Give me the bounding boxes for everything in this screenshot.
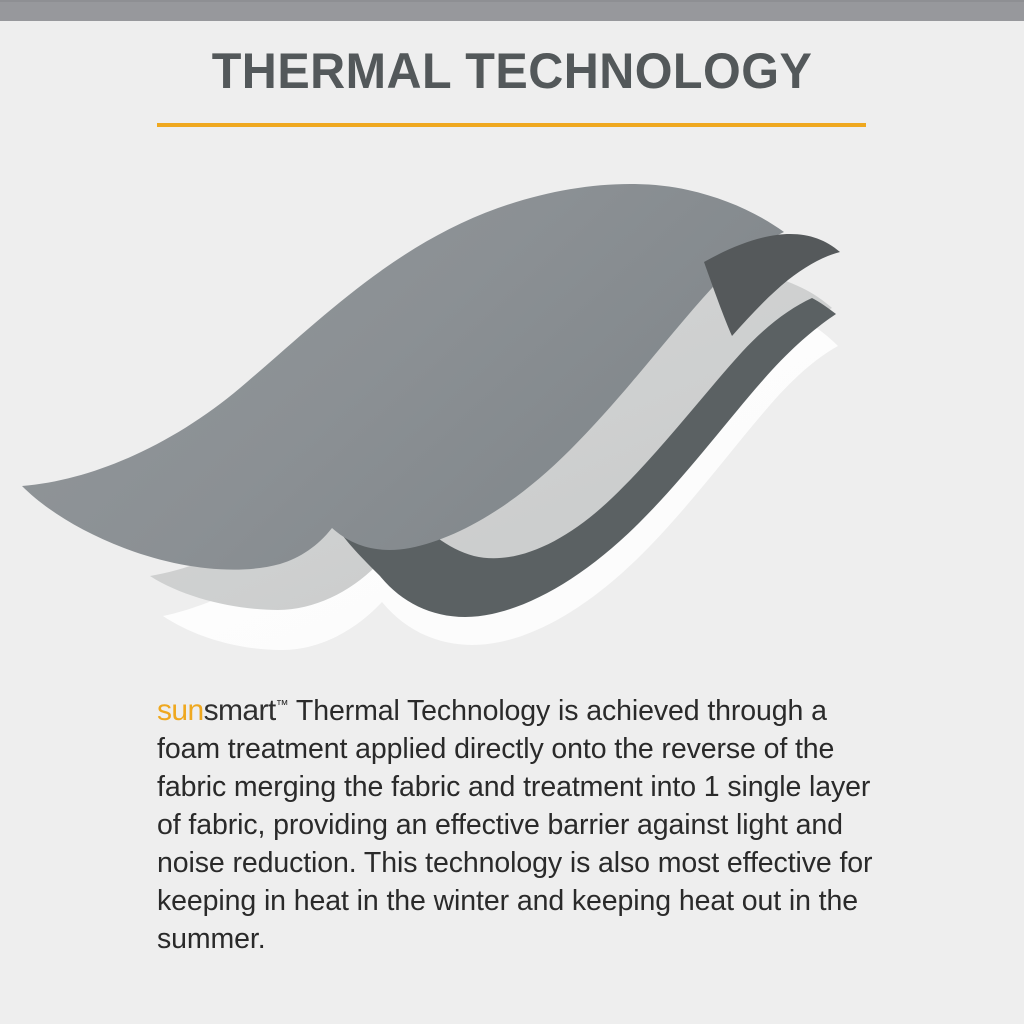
top-accent-band: [0, 0, 1024, 21]
sunsmart-logo: sunsmart™: [157, 694, 289, 727]
thermal-fabric-illustration: [0, 150, 1024, 670]
title-underline-rule: [157, 123, 866, 127]
page-header: THERMAL TECHNOLOGY: [0, 21, 1024, 131]
page-title: THERMAL TECHNOLOGY: [15, 42, 1008, 100]
trademark-symbol: ™: [276, 697, 289, 712]
brand-sun-text: sun: [157, 694, 204, 727]
body-paragraph-text: Thermal Technology is achieved through a…: [157, 695, 872, 955]
brand-smart-text: smart: [204, 694, 276, 727]
body-paragraph: sunsmart™ Thermal Technology is achieved…: [157, 686, 875, 958]
